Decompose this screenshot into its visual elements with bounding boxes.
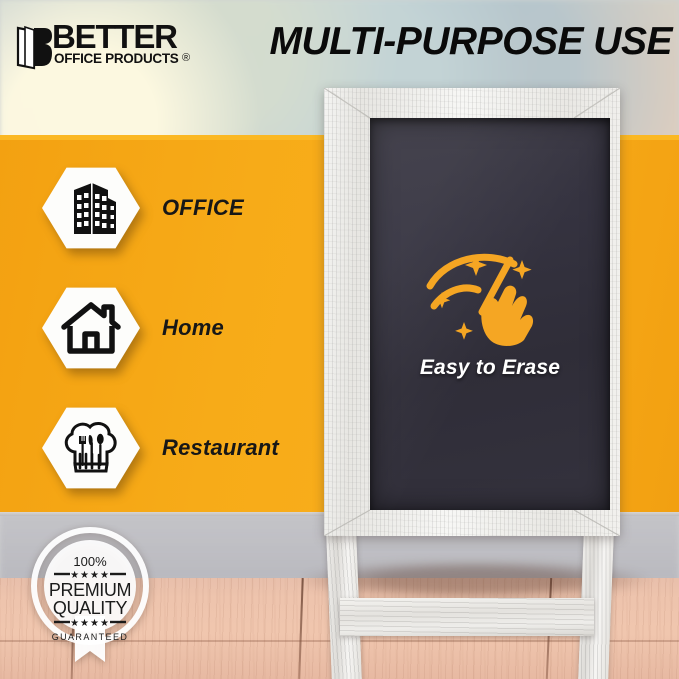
badge-percent: 100%	[73, 554, 107, 569]
chef-hat-cutlery-icon	[60, 418, 122, 478]
easel-bottom-rail	[340, 598, 594, 636]
chalkboard-writing-surface[interactable]: Easy to Erase	[370, 118, 610, 510]
feature-item-office: OFFICE	[42, 166, 342, 250]
house-icon	[60, 300, 122, 356]
hexagon-badge	[42, 406, 140, 490]
badge-footer: GUARANTEED	[52, 632, 129, 642]
feature-item-restaurant: Restaurant	[42, 406, 342, 490]
brand-tagline: OFFICE PRODUCTS	[54, 52, 179, 66]
hexagon-badge	[42, 166, 140, 250]
badge-line2: QUALITY	[53, 598, 128, 618]
wiping-hand-sparkle-icon	[424, 246, 556, 350]
brand-name: BETTER	[52, 20, 177, 53]
feature-label: OFFICE	[162, 166, 244, 250]
brand-logo: BETTER OFFICE PRODUCTS ®	[14, 22, 194, 68]
feature-label: Restaurant	[162, 406, 279, 490]
feature-label: Home	[162, 286, 224, 370]
open-book-icon	[14, 22, 54, 72]
hexagon-badge	[42, 286, 140, 370]
registered-mark: ®	[182, 52, 190, 64]
product-marketing-image: BETTER OFFICE PRODUCTS ® MULTI-PURPOSE U…	[0, 0, 679, 679]
chalkboard-frame: Easy to Erase	[324, 88, 620, 536]
badge-line1: PREMIUM	[49, 580, 131, 600]
page-title: MULTI-PURPOSE USE	[236, 22, 672, 61]
office-building-icon	[62, 178, 120, 238]
board-caption: Easy to Erase	[370, 356, 610, 380]
feature-item-home: Home	[42, 286, 342, 370]
badge-stars-bottom: ★★★★	[70, 618, 110, 629]
premium-quality-badge: 100% ★★★★ PREMIUM QUALITY ★★★★ GUARANTEE…	[26, 524, 154, 666]
chalkboard-easel-product: Easy to Erase	[306, 88, 636, 618]
